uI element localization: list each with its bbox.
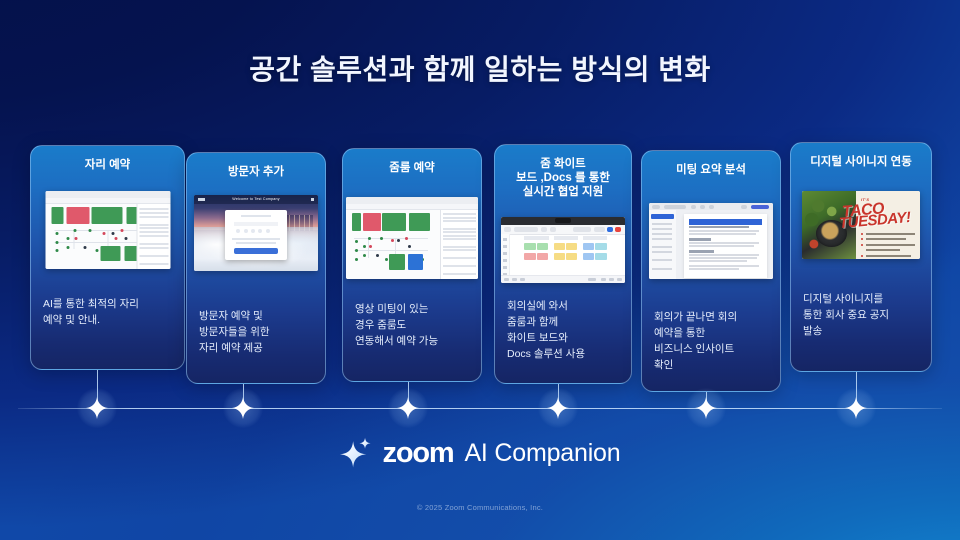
card-title: 줌 화이트 보드 ,Docs 를 통한 실시간 협업 지원 [501, 157, 625, 199]
card-title: 방문자 추가 [193, 165, 319, 179]
card-description: 방문자 예약 및 방문자들을 위한 자리 예약 제공 [199, 308, 317, 356]
card-title: 줌룸 예약 [349, 161, 475, 175]
timeline-node-5[interactable] [686, 388, 726, 428]
card-screenshot-meeting-summary-doc [649, 203, 773, 279]
card-screenshot-digital-signage: IT'S TACO TUESDAY! [802, 191, 920, 259]
card-title: 자리 예약 [37, 158, 178, 172]
card-screenshot-floor-map-room-booking [346, 197, 478, 279]
slide-canvas: 공간 솔루션과 함께 일하는 방식의 변화 자리 예약 [0, 0, 960, 540]
signage-tuesday-text: TUESDAY! [838, 210, 911, 231]
logo-brand-text: zoom [383, 437, 454, 470]
card-screenshot-zoom-whiteboard [501, 217, 625, 283]
card-title: 디지털 사이니지 연동 [797, 155, 925, 169]
card-screenshot-floor-map-seat-booking [45, 191, 170, 269]
timeline-node-3[interactable] [388, 388, 428, 428]
zoom-sparkle-icon [340, 436, 374, 470]
copyright-text: © 2025 Zoom Communications, Inc. [0, 503, 960, 512]
card-description: 디지털 사이니지를 통한 회사 중요 공지 발송 [803, 291, 923, 339]
card-description: AI를 통한 최적의 자리 예약 및 안내. [43, 296, 176, 328]
timeline-node-6[interactable] [836, 388, 876, 428]
timeline-node-1[interactable] [77, 388, 117, 428]
feature-card-whiteboard-docs[interactable]: 줌 화이트 보드 ,Docs 를 통한 실시간 협업 지원 [494, 144, 632, 384]
logo-product-text: AI Companion [464, 439, 620, 468]
sparkle-diamond-icon [695, 397, 717, 419]
timeline-axis [18, 408, 942, 409]
timeline-node-4[interactable] [538, 388, 578, 428]
sparkle-diamond-icon [845, 397, 867, 419]
timeline-node-2[interactable] [223, 388, 263, 428]
card-title: 미팅 요약 분석 [648, 163, 774, 177]
sparkle-diamond-icon [547, 397, 569, 419]
kiosk-welcome-text: Welcome to Test Company [232, 197, 279, 201]
feature-card-visitor-add[interactable]: 방문자 추가 Welcome to Test Company [186, 152, 326, 384]
card-description: 회의실에 와서 줌룸과 함께 화이트 보드와 Docs 솔루션 사용 [507, 298, 623, 362]
card-description: 영상 미팅이 있는 경우 줌룸도 연동해서 예약 가능 [355, 301, 473, 349]
card-screenshot-visitor-kiosk: Welcome to Test Company [194, 195, 318, 271]
feature-card-digital-signage[interactable]: 디지털 사이니지 연동 IT'S TACO TUESDAY! [790, 142, 932, 372]
card-description: 회의가 끝나면 회의 예약을 통한 비즈니스 인사이트 확인 [654, 309, 772, 373]
feature-card-meeting-summary[interactable]: 미팅 요약 분석 [641, 150, 781, 392]
sparkle-diamond-icon [397, 397, 419, 419]
sparkle-diamond-icon [232, 397, 254, 419]
feature-card-zoom-room-reservation[interactable]: 줌룸 예약 [342, 148, 482, 382]
zoom-ai-companion-logo: zoom AI Companion [340, 436, 621, 470]
sparkle-diamond-icon [86, 397, 108, 419]
feature-card-seat-reservation[interactable]: 자리 예약 [30, 145, 185, 370]
